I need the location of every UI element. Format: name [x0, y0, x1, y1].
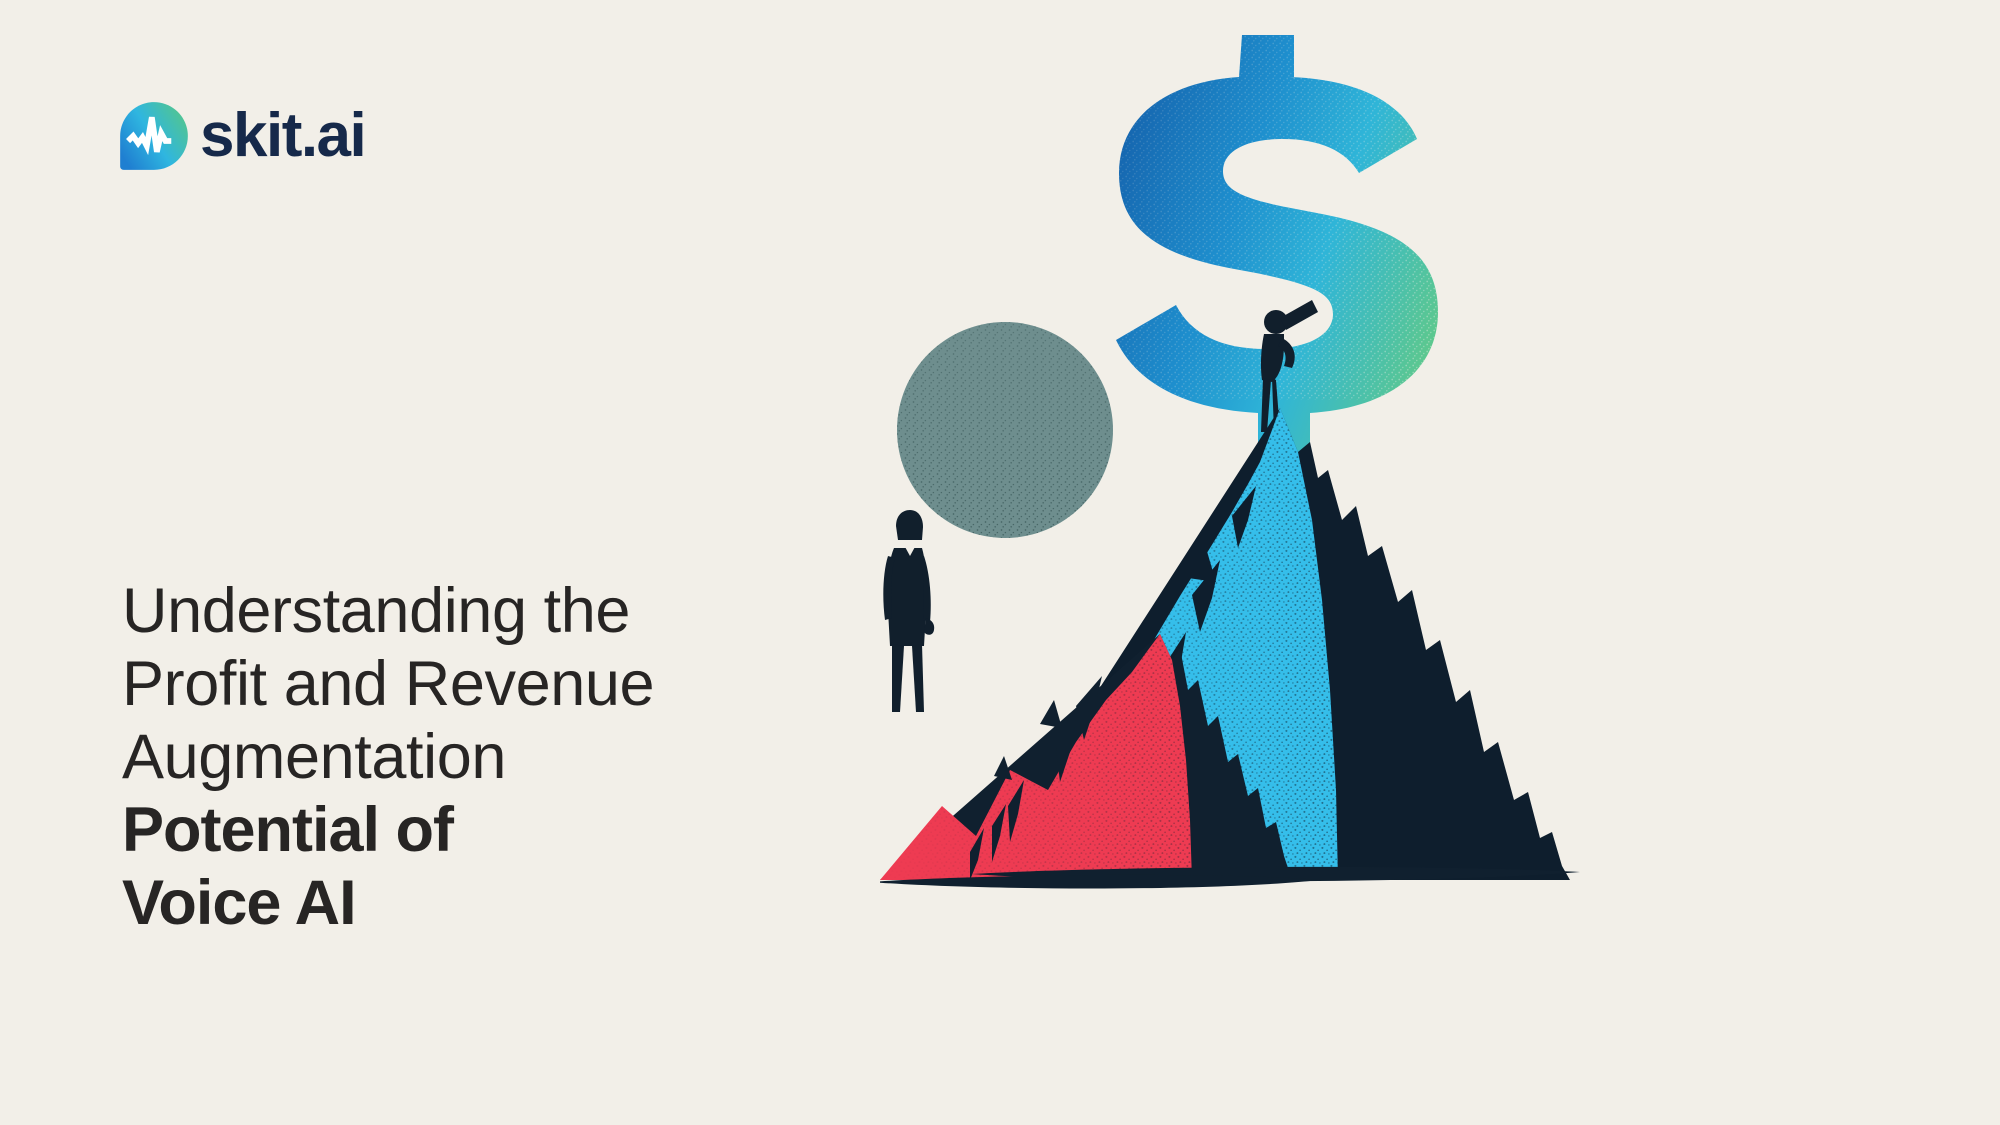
- brand-logo-text: skit.ai: [200, 105, 365, 167]
- headline-line-3: Augmentation: [122, 721, 882, 794]
- businessman-silhouette-on-red-peak: [883, 510, 934, 712]
- skit-ai-speech-bubble-waveform-logo: [118, 100, 190, 172]
- hero-illustration: [880, 0, 2000, 1125]
- page-title: Understanding the Profit and Revenue Aug…: [122, 575, 882, 940]
- headline-line-2: Profit and Revenue: [122, 648, 882, 721]
- mountains-dollar-illustration-svg: [880, 0, 2000, 1125]
- headline-line-5: Voice AI: [122, 867, 882, 940]
- banner-canvas: skit.ai Understanding the Profit and Rev…: [0, 0, 2000, 1125]
- brand-logo[interactable]: skit.ai: [118, 100, 365, 172]
- headline-line-4: Potential of: [122, 794, 882, 867]
- grainy-sphere: [890, 320, 1130, 550]
- headline-line-1: Understanding the: [122, 575, 882, 648]
